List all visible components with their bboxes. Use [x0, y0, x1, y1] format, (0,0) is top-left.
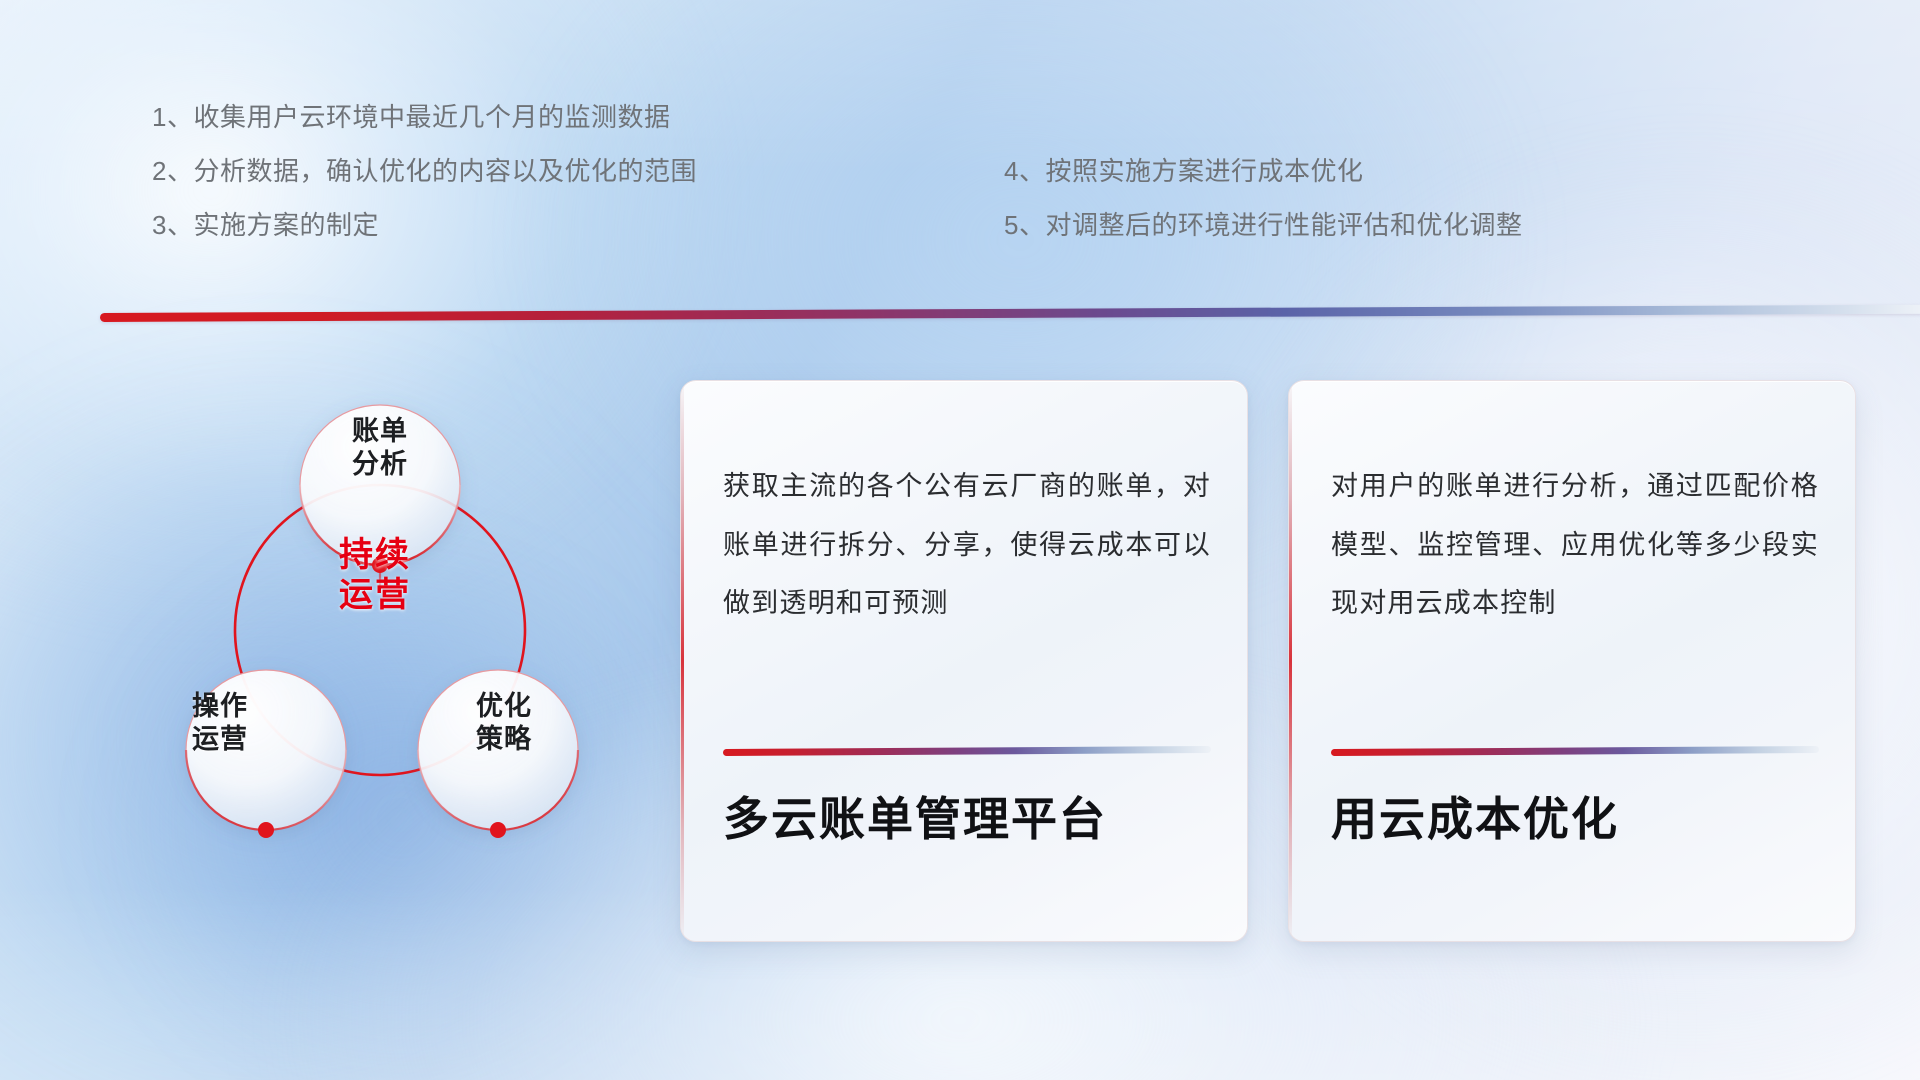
node-label-line: 策略: [424, 723, 584, 756]
info-card-multicloud-billing[interactable]: 获取主流的各个公有云厂商的账单，对账单进行拆分、分享，使得云成本可以做到透明和可…: [680, 380, 1248, 942]
node-label-line: 运营: [140, 723, 300, 756]
node-label-line: 账单: [300, 415, 460, 448]
slide-canvas: 1、收集用户云环境中最近几个月的监测数据 2、分析数据，确认优化的内容以及优化的…: [0, 0, 1920, 1080]
step-item: 5、对调整后的环境进行性能评估和优化调整: [1004, 212, 1522, 238]
node-label-billing-analysis: 账单 分析: [300, 415, 460, 481]
node-label-optimization-strategy: 优化 策略: [424, 690, 584, 756]
card-body-text: 对用户的账单进行分析，通过匹配价格模型、监控管理、应用优化等多少段实现对用云成本…: [1331, 457, 1819, 633]
diagram-center-label: 持续 运营: [285, 535, 465, 615]
step-item: 2、分析数据，确认优化的内容以及优化的范围: [152, 158, 697, 184]
step-item: 1、收集用户云环境中最近几个月的监测数据: [152, 104, 697, 130]
connector-dot-right: [490, 822, 506, 838]
card-accent-rule: [1331, 746, 1819, 756]
card-title: 多云账单管理平台: [723, 791, 1211, 849]
center-label-line: 持续: [285, 535, 465, 575]
steps-list-right: 4、按照实施方案进行成本优化 5、对调整后的环境进行性能评估和优化调整: [1004, 158, 1522, 238]
card-body-text: 获取主流的各个公有云厂商的账单，对账单进行拆分、分享，使得云成本可以做到透明和可…: [723, 457, 1211, 633]
card-accent-rule: [723, 746, 1211, 756]
node-label-operations: 操作 运营: [140, 690, 300, 756]
node-label-line: 分析: [300, 448, 460, 481]
node-label-line: 优化: [424, 690, 584, 723]
card-title: 用云成本优化: [1331, 791, 1819, 849]
connector-dot-left: [258, 822, 274, 838]
steps-list-left: 1、收集用户云环境中最近几个月的监测数据 2、分析数据，确认优化的内容以及优化的…: [152, 104, 697, 238]
step-item: 3、实施方案的制定: [152, 212, 697, 238]
continuous-operation-diagram: 账单 分析 操作 运营 优化 策略 持续 运营: [100, 350, 620, 950]
center-label-line: 运营: [285, 575, 465, 615]
node-label-line: 操作: [140, 690, 300, 723]
info-card-cloud-cost-optimization[interactable]: 对用户的账单进行分析，通过匹配价格模型、监控管理、应用优化等多少段实现对用云成本…: [1288, 380, 1856, 942]
step-item: 4、按照实施方案进行成本优化: [1004, 158, 1522, 184]
